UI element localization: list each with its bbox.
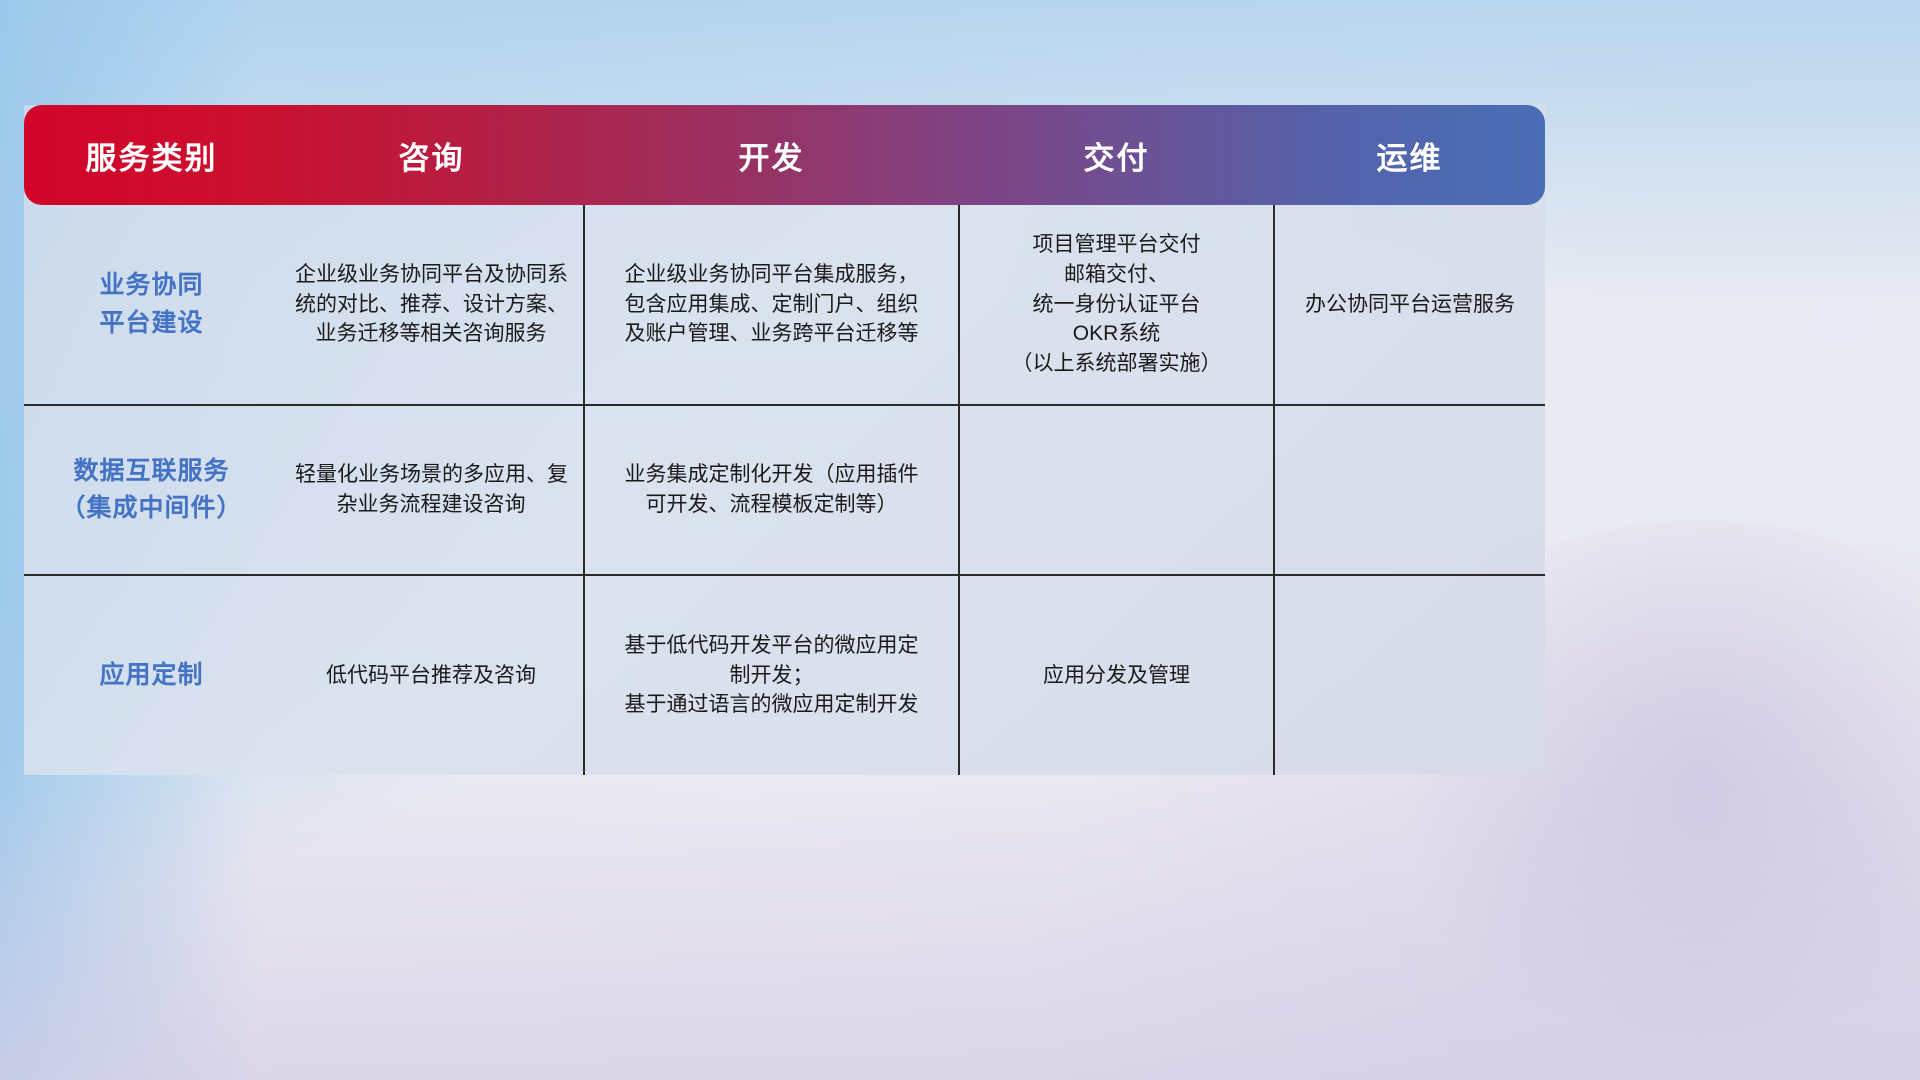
cell-consulting: 低代码平台推荐及咨询: [279, 575, 584, 775]
table-row: 数据互联服务（集成中间件） 轻量化业务场景的多应用、复杂业务流程建设咨询 业务集…: [24, 405, 1545, 575]
column-header-development: 开发: [584, 105, 959, 205]
cell-text-line: OKR系统: [976, 319, 1257, 349]
service-matrix-panel: 服务类别 咨询 开发 交付 运维 业务协同平台建设 企业级业务协同平台及协同系统…: [24, 105, 1545, 775]
row-category-label: 数据互联服务（集成中间件）: [24, 405, 279, 575]
service-matrix-table: 服务类别 咨询 开发 交付 运维 业务协同平台建设 企业级业务协同平台及协同系统…: [24, 105, 1545, 775]
cell-text-line: 制开发；: [601, 661, 942, 691]
cell-text-line: 平台建设: [40, 305, 263, 343]
cell-operations: [1274, 405, 1545, 575]
column-header-consulting: 咨询: [279, 105, 584, 205]
table-row: 应用定制 低代码平台推荐及咨询 基于低代码开发平台的微应用定制开发；基于通过语言…: [24, 575, 1545, 775]
table-header-row: 服务类别 咨询 开发 交付 运维: [24, 105, 1545, 205]
column-header-operations: 运维: [1274, 105, 1545, 205]
cell-text-line: 数据互联服务: [40, 453, 263, 491]
cell-text-line: 企业级业务协同平台集成服务，: [601, 260, 942, 290]
cell-consulting: 企业级业务协同平台及协同系统的对比、推荐、设计方案、业务迁移等相关咨询服务: [279, 205, 584, 405]
cell-operations: 办公协同平台运营服务: [1274, 205, 1545, 405]
cell-text-line: 企业级业务协同平台及协同系: [295, 260, 567, 290]
cell-consulting: 轻量化业务场景的多应用、复杂业务流程建设咨询: [279, 405, 584, 575]
cell-text-line: 项目管理平台交付: [976, 230, 1257, 260]
row-category-label: 应用定制: [24, 575, 279, 775]
cell-operations: [1274, 575, 1545, 775]
row-category-label: 业务协同平台建设: [24, 205, 279, 405]
cell-text-line: 应用定制: [40, 657, 263, 695]
column-header-delivery: 交付: [959, 105, 1274, 205]
table-row: 业务协同平台建设 企业级业务协同平台及协同系统的对比、推荐、设计方案、业务迁移等…: [24, 205, 1545, 405]
cell-text-line: 业务协同: [40, 267, 263, 305]
cell-development: 业务集成定制化开发（应用插件可开发、流程模板定制等）: [584, 405, 959, 575]
cell-text-line: 统的对比、推荐、设计方案、: [295, 290, 567, 320]
cell-text-line: （以上系统部署实施）: [976, 349, 1257, 379]
cell-text-line: 杂业务流程建设咨询: [295, 490, 567, 520]
cell-text-line: （集成中间件）: [40, 490, 263, 528]
cell-text-line: 统一身份认证平台: [976, 290, 1257, 320]
cell-delivery: 应用分发及管理: [959, 575, 1274, 775]
cell-text-line: 基于低代码开发平台的微应用定: [601, 631, 942, 661]
cell-text-line: 可开发、流程模板定制等）: [601, 490, 942, 520]
cell-text-line: 邮箱交付、: [976, 260, 1257, 290]
cell-text-line: 基于通过语言的微应用定制开发: [601, 690, 942, 720]
cell-text-line: 业务集成定制化开发（应用插件: [601, 460, 942, 490]
cell-text-line: 轻量化业务场景的多应用、复: [295, 460, 567, 490]
column-header-category: 服务类别: [24, 105, 279, 205]
cell-development: 基于低代码开发平台的微应用定制开发；基于通过语言的微应用定制开发: [584, 575, 959, 775]
cell-text-line: 应用分发及管理: [976, 661, 1257, 691]
cell-delivery: [959, 405, 1274, 575]
cell-delivery: 项目管理平台交付邮箱交付、统一身份认证平台OKR系统（以上系统部署实施）: [959, 205, 1274, 405]
table-body: 业务协同平台建设 企业级业务协同平台及协同系统的对比、推荐、设计方案、业务迁移等…: [24, 205, 1545, 775]
cell-text-line: 业务迁移等相关咨询服务: [295, 319, 567, 349]
cell-text-line: 办公协同平台运营服务: [1291, 290, 1529, 320]
cell-text-line: 及账户管理、业务跨平台迁移等: [601, 319, 942, 349]
cell-development: 企业级业务协同平台集成服务，包含应用集成、定制门户、组织及账户管理、业务跨平台迁…: [584, 205, 959, 405]
cell-text-line: 低代码平台推荐及咨询: [295, 661, 567, 691]
cell-text-line: 包含应用集成、定制门户、组织: [601, 290, 942, 320]
table-header: 服务类别 咨询 开发 交付 运维: [24, 105, 1545, 205]
